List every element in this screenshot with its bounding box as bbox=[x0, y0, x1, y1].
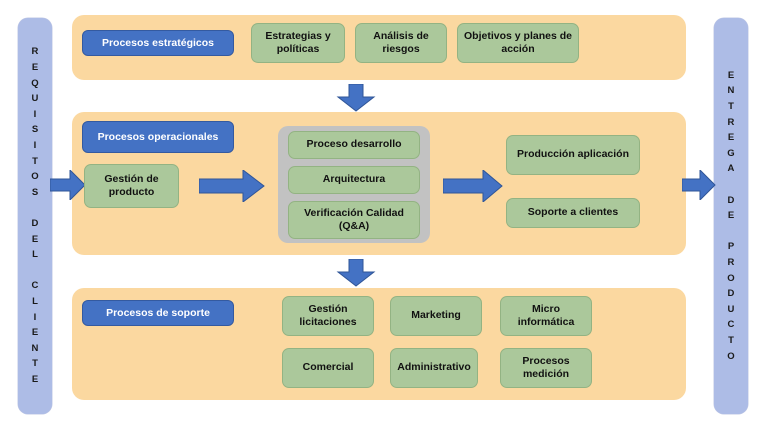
arrow-development-to-production-right bbox=[443, 170, 503, 202]
pill-procesos-de-soporte[interactable]: Procesos de soporte bbox=[82, 300, 234, 326]
process-map-diagram: R E Q U I S I T O S D E L C L I E N T E … bbox=[0, 0, 768, 433]
box-micro-informatica[interactable]: Micro informática bbox=[500, 296, 592, 336]
box-administrativo[interactable]: Administrativo bbox=[390, 348, 478, 388]
box-gestion-licitaciones[interactable]: Gestión licitaciones bbox=[282, 296, 374, 336]
arrow-client-into-operational-right bbox=[50, 170, 86, 200]
box-comercial[interactable]: Comercial bbox=[282, 348, 374, 388]
pill-procesos-estrategicos[interactable]: Procesos estratégicos bbox=[82, 30, 234, 56]
left-rail-label: R E Q U I S I T O S D E L C L I E N T E bbox=[31, 44, 38, 387]
pill-procesos-operacionales[interactable]: Procesos operacionales bbox=[82, 121, 234, 153]
box-gestion-de-producto[interactable]: Gestión de producto bbox=[84, 164, 179, 208]
box-estrategias-y-politicas[interactable]: Estrategias y políticas bbox=[251, 23, 345, 63]
box-marketing[interactable]: Marketing bbox=[390, 296, 482, 336]
arrow-strategic-to-operational-down bbox=[336, 84, 376, 112]
box-arquitectura[interactable]: Arquitectura bbox=[288, 166, 420, 194]
box-verificacion-calidad[interactable]: Verificación Calidad (Q&A) bbox=[288, 201, 420, 239]
left-rail-requisitos-del-cliente: R E Q U I S I T O S D E L C L I E N T E bbox=[18, 18, 52, 414]
box-analisis-de-riesgos[interactable]: Análisis de riesgos bbox=[355, 23, 447, 63]
box-proceso-desarrollo[interactable]: Proceso desarrollo bbox=[288, 131, 420, 159]
arrow-product-to-development-right bbox=[199, 170, 265, 202]
right-rail-entrega-de-producto: E N T R E G A D E P R O D U C T O bbox=[714, 18, 748, 414]
arrow-operational-to-delivery-right bbox=[682, 170, 716, 200]
box-produccion-aplicacion[interactable]: Producción aplicación bbox=[506, 135, 640, 175]
box-soporte-a-clientes[interactable]: Soporte a clientes bbox=[506, 198, 640, 228]
box-procesos-medicion[interactable]: Procesos medición bbox=[500, 348, 592, 388]
arrow-operational-to-support-down bbox=[336, 259, 376, 287]
box-objetivos-y-planes-de-accion[interactable]: Objetivos y planes de acción bbox=[457, 23, 579, 63]
right-rail-label: E N T R E G A D E P R O D U C T O bbox=[727, 68, 734, 364]
